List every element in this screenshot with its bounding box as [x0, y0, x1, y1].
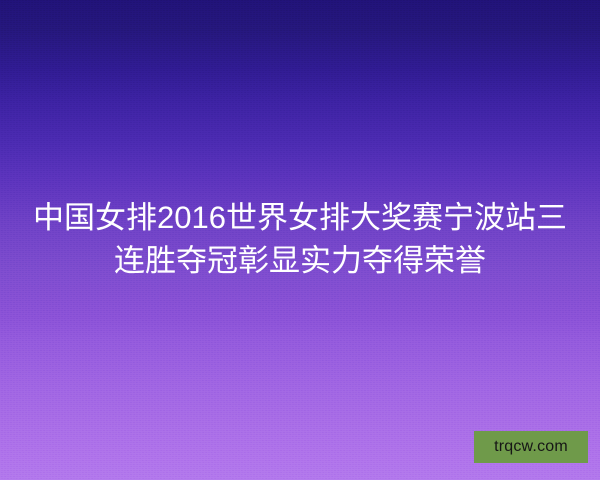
headline-text: 中国女排2016世界女排大奖赛宁波站三 连胜夺冠彰显实力夺得荣誉: [0, 196, 600, 282]
watermark-badge: trqcw.com: [474, 431, 588, 463]
title-card: 中国女排2016世界女排大奖赛宁波站三 连胜夺冠彰显实力夺得荣誉 trqcw.c…: [0, 0, 600, 480]
headline-line-2: 连胜夺冠彰显实力夺得荣誉: [24, 239, 576, 282]
headline-line-1: 中国女排2016世界女排大奖赛宁波站三: [24, 196, 576, 239]
watermark-label: trqcw.com: [494, 439, 568, 455]
